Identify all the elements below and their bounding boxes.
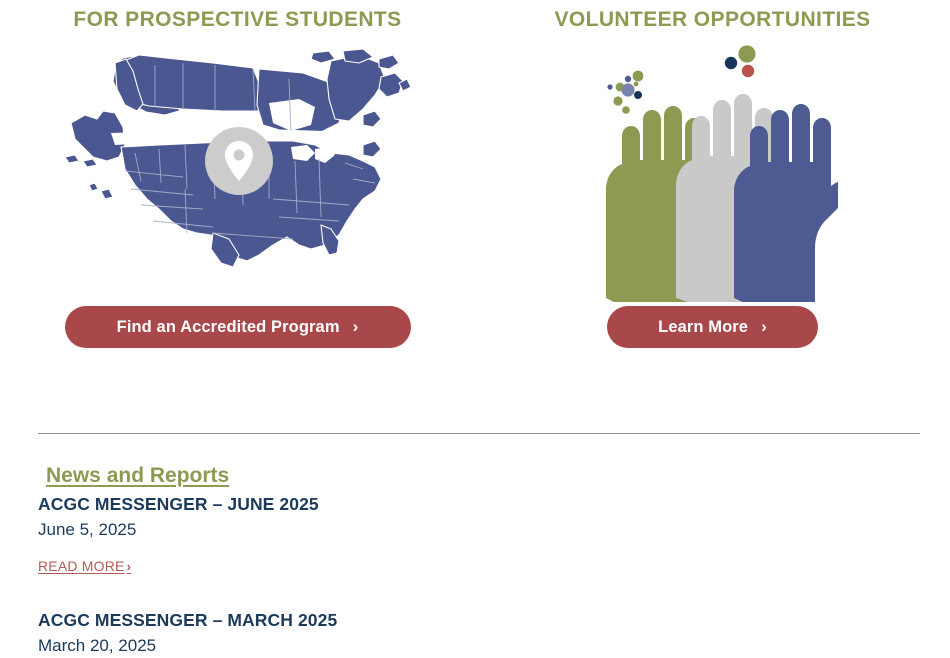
chevron-right-icon: › bbox=[353, 318, 359, 335]
news-item: ACGC MESSENGER – JUNE 2025 June 5, 2025 … bbox=[38, 492, 578, 576]
news-item: ACGC MESSENGER – MARCH 2025 March 20, 20… bbox=[38, 608, 578, 658]
section-divider bbox=[38, 433, 920, 434]
promo-title-prospective-students: FOR PROSPECTIVE STUDENTS bbox=[73, 6, 401, 34]
raised-hands-illustration bbox=[588, 36, 838, 306]
read-more-link[interactable]: READ MORE › bbox=[38, 558, 131, 574]
promo-title-volunteer-opportunities: VOLUNTEER OPPORTUNITIES bbox=[554, 6, 870, 34]
promo-row: FOR PROSPECTIVE STUDENTS bbox=[0, 0, 950, 348]
map-pin-badge bbox=[205, 127, 273, 195]
news-and-reports-section: News and Reports ACGC MESSENGER – JUNE 2… bbox=[38, 462, 578, 658]
news-and-reports-heading-link[interactable]: News and Reports bbox=[46, 462, 229, 489]
confetti-dots-left bbox=[607, 71, 643, 114]
learn-more-label: Learn More bbox=[658, 318, 748, 337]
news-item-date: March 20, 2025 bbox=[38, 633, 578, 658]
chevron-right-icon: › bbox=[761, 318, 767, 335]
find-accredited-program-button[interactable]: Find an Accredited Program › bbox=[65, 306, 411, 348]
hands-svg bbox=[588, 40, 838, 302]
news-item-date: June 5, 2025 bbox=[38, 517, 578, 542]
promo-card-prospective-students: FOR PROSPECTIVE STUDENTS bbox=[0, 6, 475, 348]
map-svg bbox=[63, 49, 413, 294]
news-item-title[interactable]: ACGC MESSENGER – JUNE 2025 bbox=[38, 492, 578, 516]
news-item-title[interactable]: ACGC MESSENGER – MARCH 2025 bbox=[38, 608, 578, 632]
read-more-label: READ MORE bbox=[38, 558, 125, 574]
learn-more-button[interactable]: Learn More › bbox=[607, 306, 818, 348]
north-america-map-illustration bbox=[63, 36, 413, 306]
promo-card-volunteer-opportunities: VOLUNTEER OPPORTUNITIES bbox=[475, 6, 950, 348]
chevron-right-icon: › bbox=[127, 559, 132, 574]
confetti-dots-right bbox=[724, 45, 755, 77]
find-accredited-program-label: Find an Accredited Program bbox=[117, 318, 340, 337]
